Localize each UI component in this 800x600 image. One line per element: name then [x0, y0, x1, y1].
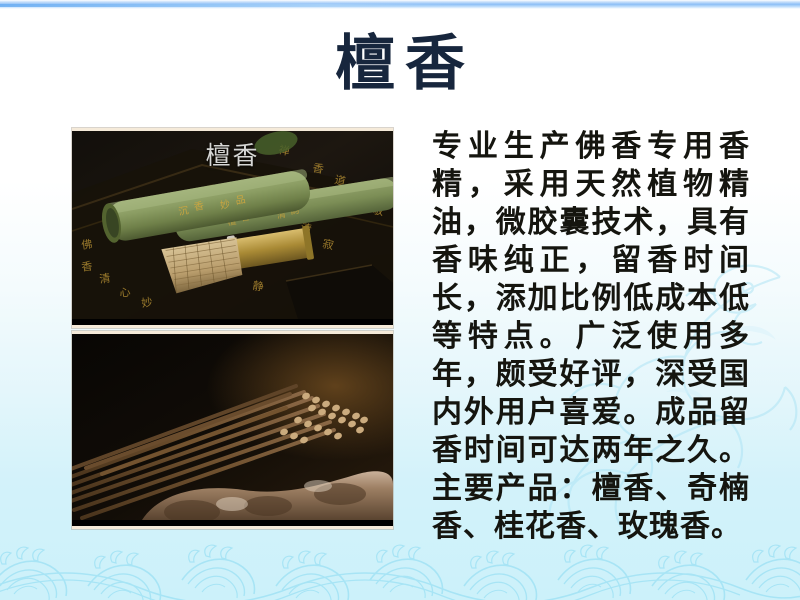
- svg-text:佛: 佛: [81, 238, 94, 252]
- product-photo-top-caption: 檀香: [72, 141, 393, 171]
- svg-text:妙: 妙: [140, 295, 153, 310]
- top-accent-strip: [0, 0, 800, 9]
- body-paragraph: 专业生产佛香专用香精，采用天然植物精油，微胶囊技术，具有香味纯正，留香时间长，添…: [432, 128, 750, 530]
- product-photo-top: 佛 香 清 心 妙 香 道 和 敬 清 寂 禅 静: [72, 128, 393, 328]
- svg-text:清: 清: [99, 272, 112, 286]
- svg-text:香: 香: [193, 200, 205, 214]
- product-photo-bottom-image: [72, 334, 393, 526]
- sea-wave-pattern: [0, 538, 800, 600]
- svg-text:品: 品: [235, 194, 247, 208]
- product-photo-bottom: [72, 331, 393, 529]
- page-title: 檀香: [0, 30, 800, 98]
- svg-text:香: 香: [81, 260, 94, 274]
- svg-text:心: 心: [119, 286, 132, 300]
- slide-canvas: 檀香: [0, 0, 800, 600]
